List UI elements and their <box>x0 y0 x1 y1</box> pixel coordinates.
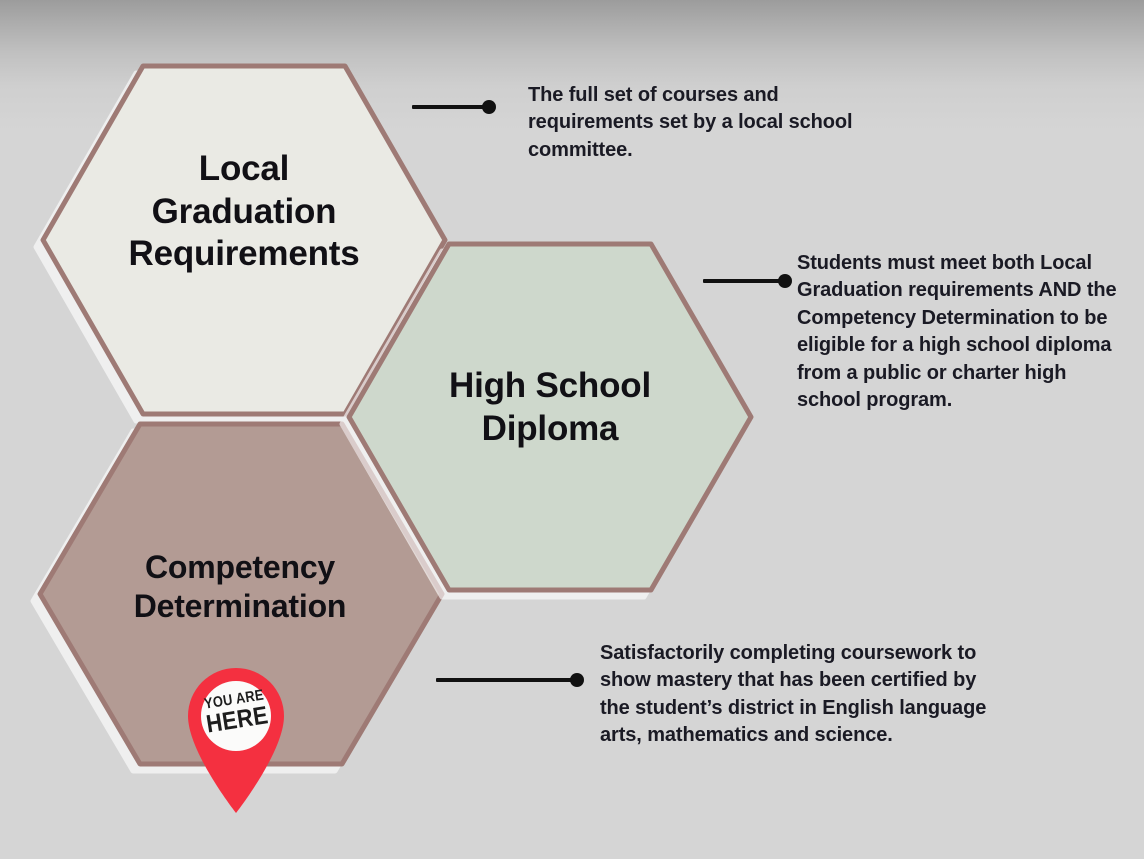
hexagon-label-high-school-diploma: High School Diploma <box>348 365 752 450</box>
connector-line-2 <box>703 274 792 288</box>
map-pin-icon <box>180 660 292 815</box>
hexagon-label-competency-determination: Competency Determination <box>38 548 442 626</box>
connector-bar-1 <box>412 105 486 109</box>
connector-line-1 <box>412 100 496 114</box>
connector-bar-3 <box>436 678 574 682</box>
connector-bar-2 <box>703 279 782 283</box>
hexagon-label-local-graduation-requirements: Local Graduation Requirements <box>42 148 446 276</box>
connector-line-3 <box>436 673 584 687</box>
connector-dot-3 <box>570 673 584 687</box>
callout-text-local-graduation-requirements: The full set of courses and requirements… <box>528 82 888 164</box>
infographic-canvas: Local Graduation Requirements High Schoo… <box>0 0 1144 859</box>
you-are-here-pin[interactable]: YOU ARE HERE <box>180 660 292 815</box>
callout-text-competency-determination: Satisfactorily completing coursework to … <box>600 640 1010 750</box>
connector-dot-2 <box>778 274 792 288</box>
connector-dot-1 <box>482 100 496 114</box>
callout-text-high-school-diploma: Students must meet both Local Graduation… <box>797 250 1132 414</box>
